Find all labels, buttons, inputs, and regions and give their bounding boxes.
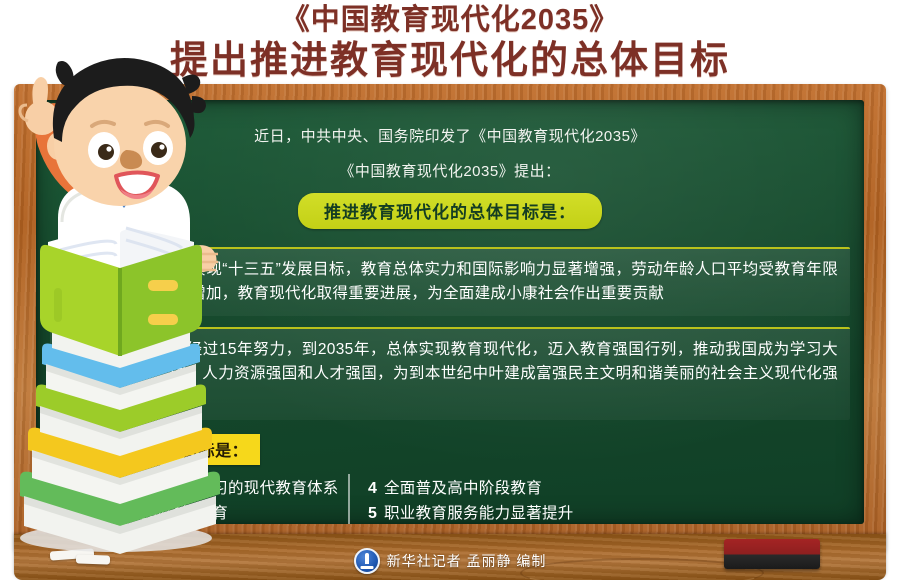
credit-row: 新华社记者 孟丽静 编制	[354, 548, 547, 574]
boy-reading-illustration	[0, 26, 248, 562]
goal-text: 职业教育服务能力显著提升	[384, 505, 574, 522]
goals-right-column: 4全面普及高中阶段教育 5职业教育服务能力显著提升 6高等教育竞争力明显提升 7…	[368, 476, 838, 524]
goal-text: 全面普及高中阶段教育	[384, 480, 542, 497]
goal-number: 5	[368, 501, 384, 524]
credit-line: 新华社记者 孟丽静 编制	[0, 548, 900, 577]
goal-number: 4	[368, 476, 384, 501]
boy-head	[47, 58, 206, 206]
headline-pill: 推进教育现代化的总体目标是：	[298, 193, 602, 229]
xinhua-logo-icon	[354, 548, 380, 574]
infographic-poster: 《中国教育现代化2035》 提出推进教育现代化的总体目标 近日，中共中央、国务院…	[0, 0, 900, 580]
goal-item: 4全面普及高中阶段教育	[368, 476, 838, 501]
goal-item: 5职业教育服务能力显著提升	[368, 501, 838, 524]
credit-text: 新华社记者 孟丽静 编制	[387, 551, 547, 571]
